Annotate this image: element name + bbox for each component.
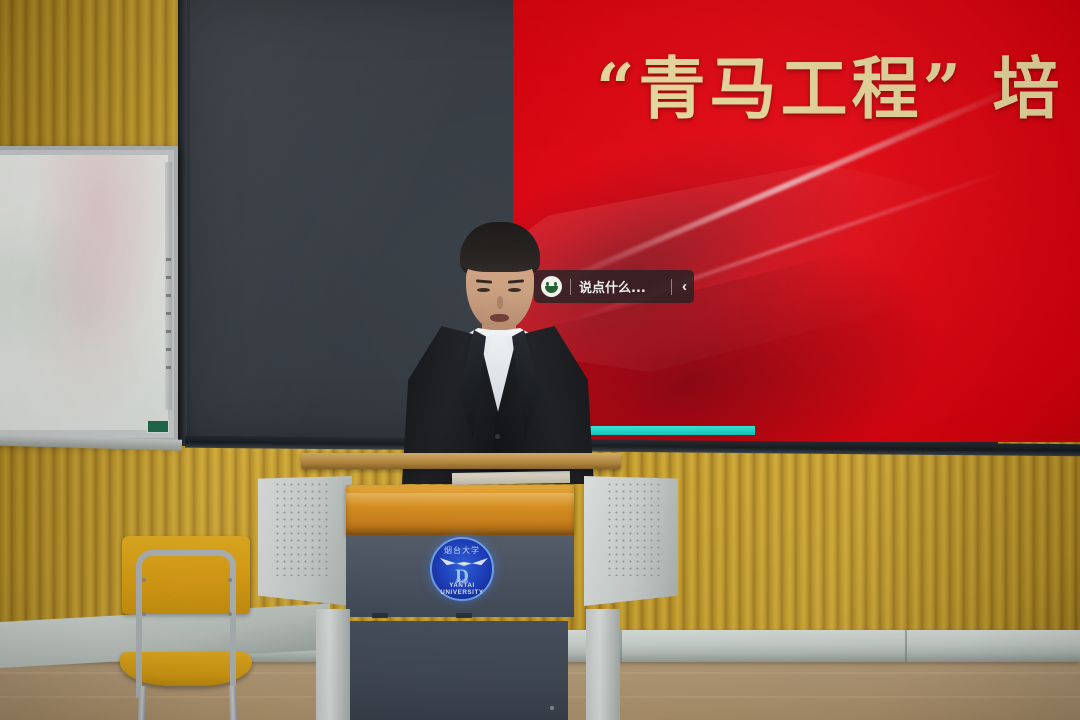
banner-headline: “青马工程” 培 bbox=[596, 55, 1063, 122]
whiteboard-control-dots[interactable] bbox=[166, 258, 171, 378]
podium-pillar-left bbox=[316, 609, 350, 720]
podium-pillar-right bbox=[586, 609, 620, 720]
photo-scene: “青马工程” 培 说点什么... ‹ bbox=[0, 0, 1080, 720]
chevron-left-icon[interactable]: ‹ bbox=[680, 279, 687, 294]
logo-english-name: YANTAI UNIVERSITY bbox=[432, 582, 492, 596]
whiteboard-green-label bbox=[147, 420, 169, 433]
person-eye-left bbox=[477, 288, 490, 292]
podium-lower-cabinet bbox=[350, 621, 568, 720]
person-nose bbox=[497, 296, 503, 309]
classroom-chair bbox=[118, 534, 258, 720]
comment-bar-divider-right bbox=[671, 279, 672, 295]
yantai-university-logo: 烟台大学 D 1984 YANTAI UNIVERSITY bbox=[430, 537, 494, 601]
person-eye-right bbox=[508, 288, 521, 292]
multimedia-podium: 烟台大学 D 1984 YANTAI UNIVERSITY bbox=[258, 463, 678, 720]
logo-chinese-name: 烟台大学 bbox=[432, 545, 492, 556]
person-mouth bbox=[490, 314, 509, 322]
chair-leg-left bbox=[137, 686, 146, 720]
chair-leg-right bbox=[229, 686, 238, 720]
whiteboard-surface bbox=[0, 155, 168, 430]
podium-wood-front-panel bbox=[346, 485, 574, 535]
podium-clip-right bbox=[456, 613, 472, 618]
podium-screw bbox=[550, 706, 554, 710]
speaker-grille-right-icon bbox=[606, 481, 662, 576]
podium-clip-left bbox=[372, 613, 388, 618]
whiteboard bbox=[0, 146, 178, 442]
speaker-person bbox=[398, 222, 594, 484]
podium-desktop-surface bbox=[301, 453, 621, 469]
chair-metal-frame bbox=[136, 550, 236, 698]
blackboard-left-frame bbox=[178, 0, 187, 446]
person-hair-fringe bbox=[462, 246, 538, 272]
screen-teal-accent-strip bbox=[575, 426, 755, 435]
person-jacket-button bbox=[495, 434, 500, 439]
speaker-grille-left-icon bbox=[274, 481, 330, 576]
